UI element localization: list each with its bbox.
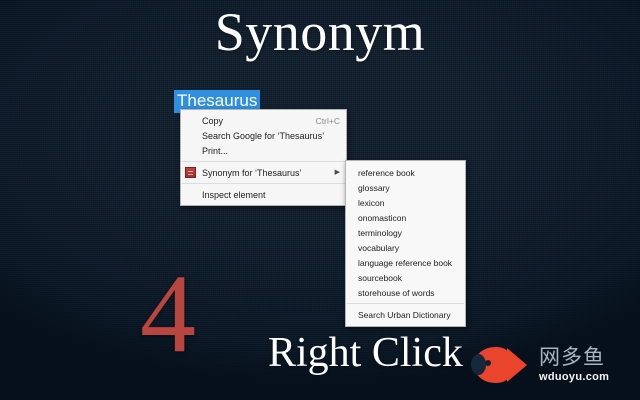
submenu-item[interactable]: language reference book (346, 255, 465, 270)
slide-caption: Right Click (268, 330, 463, 376)
submenu-item[interactable]: storehouse of words (346, 285, 465, 300)
submenu-item-label: language reference book (358, 258, 459, 268)
submenu-item-label: vocabulary (358, 243, 459, 253)
context-menu-item-label: Print... (202, 146, 340, 156)
context-menu-item-label: Search Google for ‘Thesaurus’ (202, 131, 340, 141)
context-menu-item[interactable]: Synonym for ‘Thesaurus’▶ (181, 165, 346, 180)
context-menu-item[interactable]: Print... (181, 143, 346, 158)
context-menu-item-label: Copy (202, 116, 306, 126)
slide-canvas: Synonym 4 Right Click Thesaurus CopyCtrl… (0, 0, 640, 400)
watermark-url: wduoyu.com (539, 368, 609, 383)
submenu-item-label: storehouse of words (358, 288, 459, 298)
watermark: 网多鱼 wduoyu.com (474, 336, 636, 394)
step-number: 4 (140, 258, 196, 370)
submenu-separator (347, 303, 464, 304)
submenu-item-label: terminology (358, 228, 459, 238)
fish-eye (485, 360, 491, 366)
page-title: Synonym (0, 2, 640, 62)
context-menu-item-shortcut: Ctrl+C (306, 116, 340, 126)
extension-icon (185, 167, 196, 178)
context-menu-separator (182, 183, 345, 184)
fish-logo-icon (474, 342, 532, 388)
submenu-item[interactable]: vocabulary (346, 240, 465, 255)
submenu-item-label: reference book (358, 168, 459, 178)
submenu-item[interactable]: reference book (346, 165, 465, 180)
fish-mouth-notch (471, 354, 486, 375)
submenu-item[interactable]: lexicon (346, 195, 465, 210)
synonym-submenu[interactable]: reference bookglossarylexicononomasticon… (345, 160, 466, 327)
watermark-brand: 网多鱼 (539, 347, 609, 368)
context-menu-separator (182, 161, 345, 162)
submenu-item[interactable]: terminology (346, 225, 465, 240)
watermark-text: 网多鱼 wduoyu.com (532, 347, 609, 383)
submenu-item[interactable]: sourcebook (346, 270, 465, 285)
context-menu[interactable]: CopyCtrl+CSearch Google for ‘Thesaurus’P… (180, 109, 347, 206)
context-menu-item[interactable]: Inspect element (181, 187, 346, 202)
submenu-item-label: onomasticon (358, 213, 459, 223)
submenu-item[interactable]: Search Urban Dictionary (346, 307, 465, 322)
context-menu-item-label: Synonym for ‘Thesaurus’ (202, 168, 332, 178)
submenu-item-label: sourcebook (358, 273, 459, 283)
submenu-item-label: Search Urban Dictionary (358, 310, 459, 320)
context-menu-item-label: Inspect element (202, 190, 340, 200)
submenu-item-label: lexicon (358, 198, 459, 208)
submenu-item-label: glossary (358, 183, 459, 193)
context-menu-item[interactable]: Search Google for ‘Thesaurus’ (181, 128, 346, 143)
submenu-item[interactable]: onomasticon (346, 210, 465, 225)
chevron-right-icon: ▶ (332, 169, 340, 176)
submenu-item[interactable]: glossary (346, 180, 465, 195)
fish-tail (507, 348, 527, 382)
context-menu-item[interactable]: CopyCtrl+C (181, 113, 346, 128)
